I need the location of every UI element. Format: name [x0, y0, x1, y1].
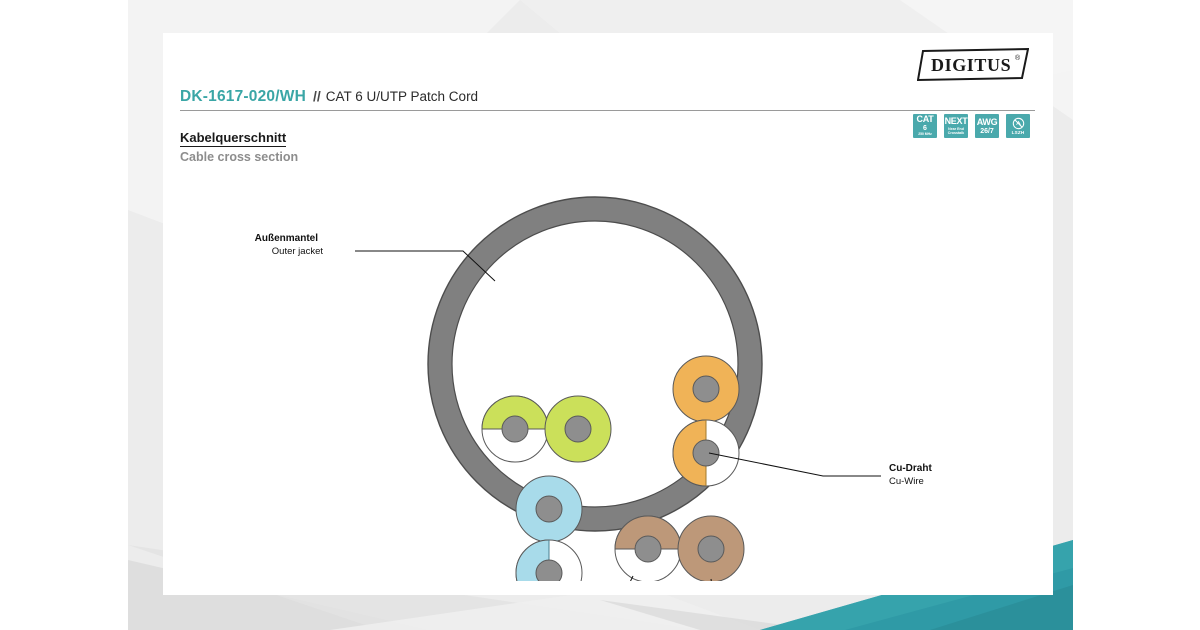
brown-pair [615, 516, 744, 581]
orange-wire-striped [673, 420, 739, 486]
lszh-icon [1012, 117, 1025, 130]
product-sku: DK-1617-020/WH [180, 88, 306, 105]
cu-core [635, 536, 661, 562]
cu-core [565, 416, 591, 442]
title-separator: // [313, 88, 321, 104]
awg-badge-line2: 26/7 [980, 128, 994, 135]
blue-wire-solid [516, 476, 582, 542]
brown-wire-striped [615, 516, 681, 581]
callout-outer-jacket-de: Außenmantel [255, 233, 319, 244]
blue-pair [516, 476, 582, 581]
logo-trademark: ® [1015, 54, 1021, 62]
cat6-badge: CAT 6 250 MHz [912, 113, 938, 139]
cu-core [502, 416, 528, 442]
product-name: CAT 6 U/UTP Patch Cord [326, 89, 478, 104]
callout-cu-wire: Cu-Draht Cu-Wire [709, 453, 932, 487]
cat6-badge-line1: CAT [917, 115, 934, 124]
cable-cross-section-diagram: Außenmantel Outer jacket Cu-Draht Cu-Wir… [163, 151, 1053, 581]
awg-badge-line1: AWG [977, 118, 998, 127]
section-title-de: Kabelquerschnitt [180, 130, 286, 147]
slide-canvas: DIGITUS ® DK-1617-020/WH//CAT 6 U/UTP Pa… [0, 0, 1200, 630]
lszh-badge-label: LSZH [1012, 131, 1025, 136]
product-title-row: DK-1617-020/WH//CAT 6 U/UTP Patch Cord [180, 88, 1035, 111]
certification-badges: CAT 6 250 MHz NEXT Near End Crosstalk AW… [912, 113, 1031, 139]
cu-core [693, 376, 719, 402]
lszh-badge: LSZH [1005, 113, 1031, 139]
next-badge-line1: NEXT [945, 117, 968, 126]
next-badge-line3: Near End Crosstalk [944, 127, 968, 135]
callout-outer-jacket-en: Outer jacket [272, 246, 324, 257]
green-wire-striped [482, 396, 548, 462]
callout-cu-wire-de: Cu-Draht [889, 463, 932, 474]
cu-core [536, 496, 562, 522]
callout-cu-wire-en: Cu-Wire [889, 476, 924, 487]
orange-wire-solid [673, 356, 739, 422]
green-wire-solid [545, 396, 611, 462]
cu-core [693, 440, 719, 466]
cat6-badge-line2: 6 [923, 125, 927, 132]
cat6-badge-line3: 250 MHz [918, 133, 932, 136]
next-badge: NEXT Near End Crosstalk [943, 113, 969, 139]
brown-wire-solid [678, 516, 744, 581]
cu-core [698, 536, 724, 562]
content-card: DIGITUS ® DK-1617-020/WH//CAT 6 U/UTP Pa… [163, 33, 1053, 595]
logo-wordmark: DIGITUS [931, 55, 1011, 75]
awg-badge: AWG 26/7 [974, 113, 1000, 139]
blue-wire-striped [516, 540, 582, 581]
digitus-logo: DIGITUS ® [917, 47, 1029, 83]
cu-core [536, 560, 562, 581]
